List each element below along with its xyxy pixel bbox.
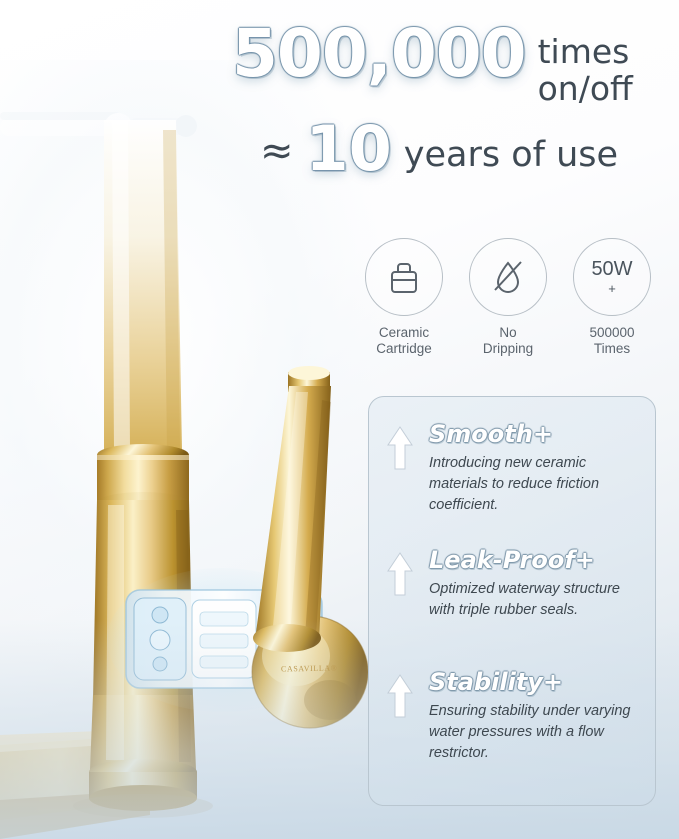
feature-title: Smooth+ [429,421,645,447]
feature-badges: Ceramic Cartridge No Dripping 50W + [358,238,658,358]
badge-label-line1: No [462,325,554,341]
approx-symbol: ≈ [260,131,294,179]
feature-text: Leak-Proof+ Optimized waterway structure… [429,547,645,621]
countertop [0,729,150,839]
brand-mark: CASAVILLA® [281,664,338,674]
badge-label-line1: Ceramic [358,325,450,341]
badge-watt-times: 50W + 500000 Times [566,238,658,358]
feature-description: Ensuring stability under varying water p… [429,701,645,763]
headline-times-label: times [538,34,633,71]
faucet-body [89,500,197,811]
feature-text: Stability+ Ensuring stability under vary… [429,669,645,763]
headline-times-onoff: times on/off [538,22,633,108]
headline-line-2: ≈ 10 years of use [260,120,672,179]
ceramic-cartridge-cutaway [107,568,337,712]
badge-label-line2: Cartridge [358,341,450,357]
feature-description: Introducing new ceramic materials to red… [429,453,645,515]
headline-big-number: 500,000 [232,22,526,85]
ceramic-cartridge-icon [383,256,425,298]
product-infographic-page: CASAVILLA® 500,000 times on/off ≈ 10 yea… [0,0,679,839]
arrow-column [383,547,417,621]
badge-label: 500000 Times [566,325,658,358]
headline-block: 500,000 times on/off ≈ 10 years of use [232,22,672,179]
spout-collar [97,444,189,514]
headline-years-number: 10 [306,120,392,179]
feature-text: Smooth+ Introducing new ceramic material… [429,421,645,515]
watt-value: 50W [591,259,632,279]
headline-line-1: 500,000 times on/off [232,22,672,108]
badge-label: No Dripping [462,325,554,358]
badge-circle [469,238,547,316]
headline-onoff-label: on/off [538,71,633,108]
arrow-column [383,669,417,763]
watt-text-icon: 50W + [591,259,632,295]
feature-item-smooth: Smooth+ Introducing new ceramic material… [383,421,645,515]
headline-years-label: years of use [404,138,618,179]
faucet-lever [253,366,331,652]
badge-no-dripping: No Dripping [462,238,554,358]
feature-item-leak-proof: Leak-Proof+ Optimized waterway structure… [383,547,645,621]
feature-title: Stability+ [429,669,645,695]
badge-circle [365,238,443,316]
up-arrow-icon [387,673,413,719]
badge-label: Ceramic Cartridge [358,325,450,358]
background-faucet [0,112,197,141]
feature-panel: Smooth+ Introducing new ceramic material… [368,396,656,806]
feature-title: Leak-Proof+ [429,547,645,573]
badge-label-line2: Dripping [462,341,554,357]
feature-item-stability: Stability+ Ensuring stability under vary… [383,669,645,763]
up-arrow-icon [387,551,413,597]
badge-label-line1: 500000 [566,325,658,341]
up-arrow-icon [387,425,413,471]
arrow-column [383,421,417,515]
faucet-spout [104,120,182,452]
badge-label-line2: Times [566,341,658,357]
badge-ceramic-cartridge: Ceramic Cartridge [358,238,450,358]
no-dripping-icon [487,256,529,298]
watt-plus: + [591,282,632,295]
badge-circle: 50W + [573,238,651,316]
feature-description: Optimized waterway structure with triple… [429,579,645,620]
